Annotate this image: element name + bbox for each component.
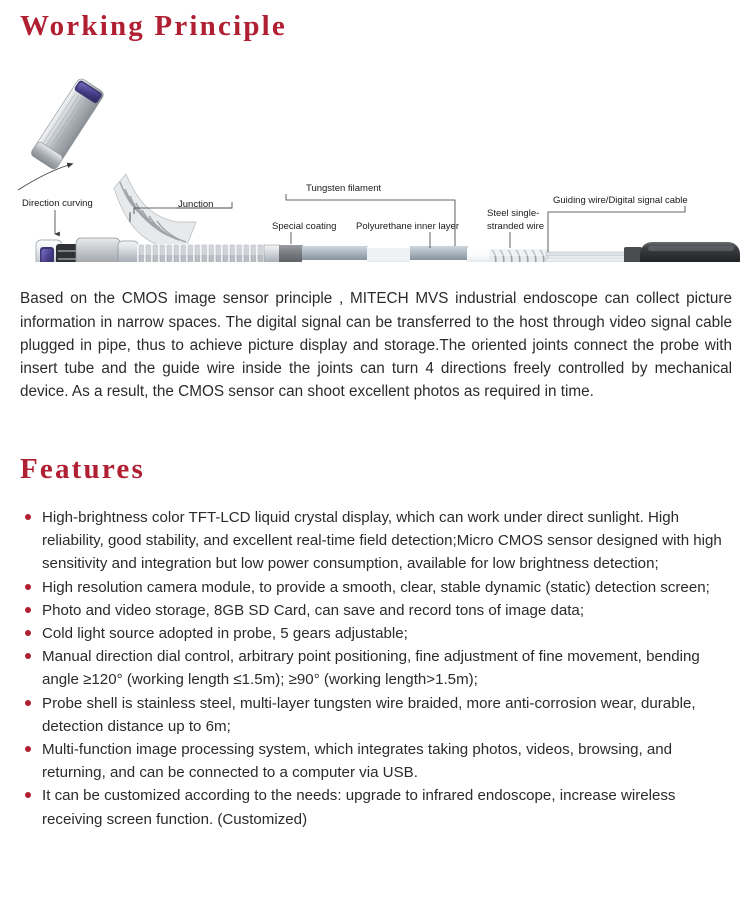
diagram-layered-tube [302,246,491,262]
list-item-text: High-brightness color TFT-LCD liquid cry… [42,509,722,572]
diagram-guiding-wires [546,252,628,262]
diagram-oriented-joints [137,244,265,262]
diagram-label-special-coating: Special coating [272,221,336,232]
list-item-text: It can be customized according to the ne… [42,787,675,827]
bullet-dot-icon [25,653,31,659]
list-item: High resolution camera module, to provid… [20,576,735,599]
working-principle-paragraph: Based on the CMOS image sensor principle… [20,287,732,403]
bullet-dot-icon [25,584,31,590]
diagram-probe-head [36,238,138,262]
bullet-dot-icon [25,792,31,798]
bullet-dot-icon [25,700,31,706]
list-item: Manual direction dial control, arbitrary… [20,645,735,691]
list-item-text: Photo and video storage, 8GB SD Card, ca… [42,602,584,619]
list-item: Cold light source adopted in probe, 5 ge… [20,622,735,645]
features-list: High-brightness color TFT-LCD liquid cry… [20,506,735,831]
page-title-features: Features [20,455,145,484]
diagram-curved-neck [114,174,196,248]
bullet-dot-icon [25,630,31,636]
list-item: Probe shell is stainless steel, multi-la… [20,692,735,738]
diagram-label-junction: Junction [178,199,213,210]
diagram-signal-cable [624,242,740,262]
diagram-label-tungsten-filament: Tungsten filament [306,183,382,194]
list-item-text: Manual direction dial control, arbitrary… [42,648,700,688]
diagram-label-guiding-wire-signal-cable: Guiding wire/Digital signal cable [553,195,688,206]
list-item-text: Cold light source adopted in probe, 5 ge… [42,625,408,642]
list-item-text: Multi-function image processing system, … [42,741,672,781]
diagram-special-coating [264,245,303,262]
list-item-text: High resolution camera module, to provid… [42,579,710,596]
diagram-label-steel-stranded-wire-line2: stranded wire [487,221,544,232]
bullet-dot-icon [25,746,31,752]
diagram-label-polyurethane-inner-layer: Polyurethane inner layer [356,221,459,232]
endoscope-diagram: Direction curving Junction Oriented join… [0,62,750,262]
diagram-label-direction-curving: Direction curving [22,198,93,209]
list-item: Photo and video storage, 8GB SD Card, ca… [20,599,735,622]
bullet-dot-icon [25,607,31,613]
diagram-bent-probe-tip [30,77,105,170]
list-item: Multi-function image processing system, … [20,738,735,784]
bullet-dot-icon [25,514,31,520]
document-page: Working Principle [0,0,750,907]
list-item-text: Probe shell is stainless steel, multi-la… [42,695,696,735]
diagram-label-steel-stranded-wire-line1: Steel single- [487,208,539,219]
diagram-steel-stranded-wire [489,249,549,262]
list-item: High-brightness color TFT-LCD liquid cry… [20,506,735,576]
page-title-working-principle: Working Principle [20,12,287,41]
list-item: It can be customized according to the ne… [20,784,735,830]
